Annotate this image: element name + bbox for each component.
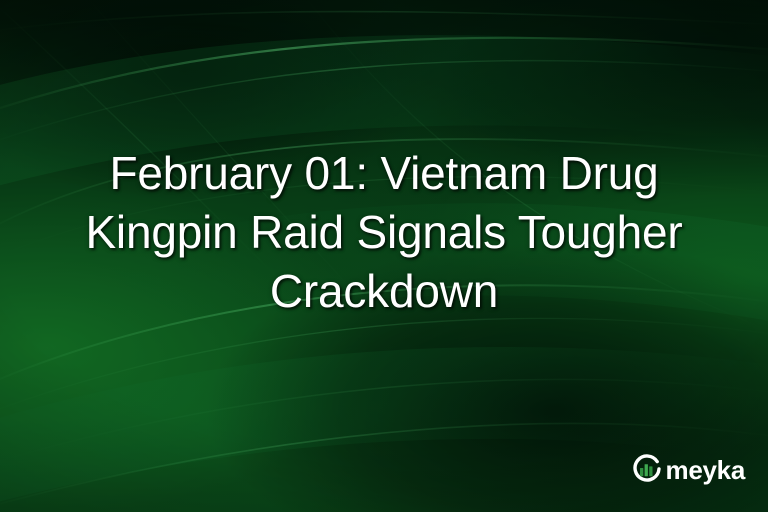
meyka-logo[interactable]: meyka xyxy=(631,453,745,485)
news-banner: February 01: Vietnam Drug Kingpin Raid S… xyxy=(0,0,768,512)
logo-wordmark: meyka xyxy=(666,457,745,483)
headline-title: February 01: Vietnam Drug Kingpin Raid S… xyxy=(0,144,768,321)
circle-bar-chart-icon xyxy=(631,453,663,485)
